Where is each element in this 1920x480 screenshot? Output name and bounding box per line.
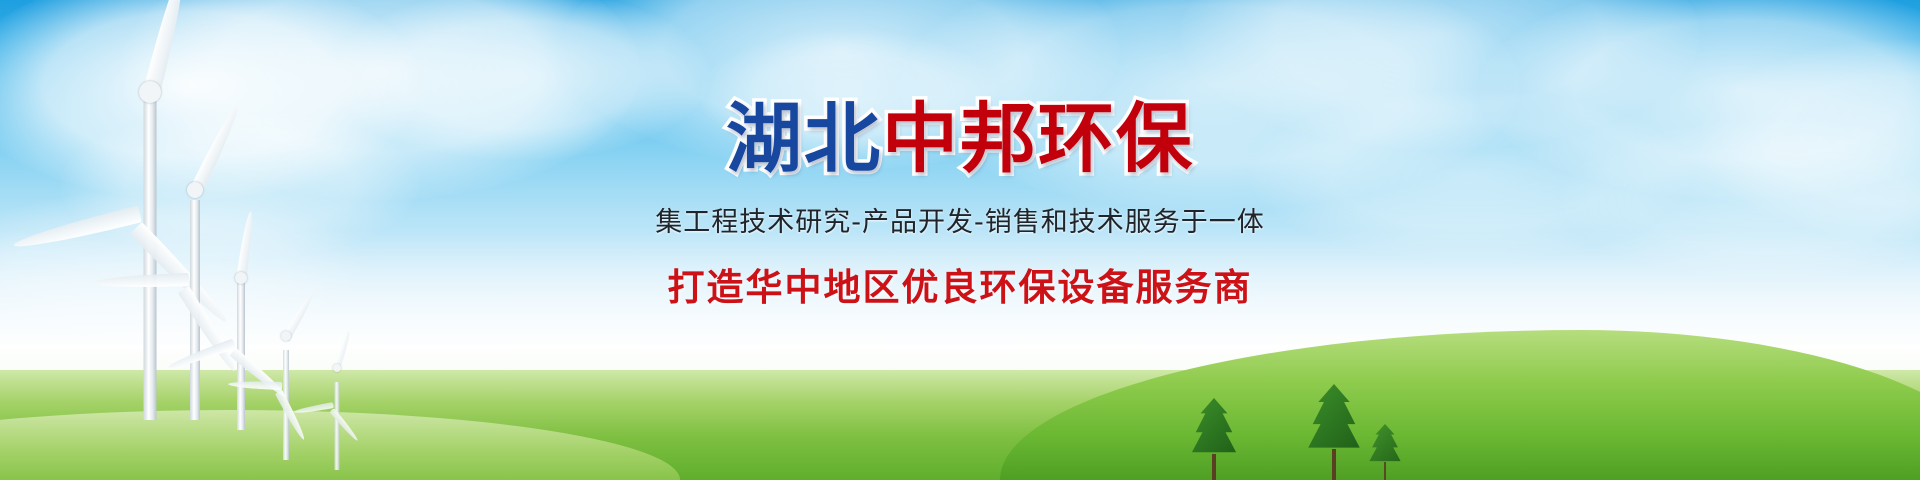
tree-trunk bbox=[1384, 462, 1387, 480]
turbine-blade bbox=[167, 339, 236, 372]
tree-trunk bbox=[1332, 449, 1336, 480]
turbine-blade bbox=[228, 380, 282, 390]
turbine-hub bbox=[333, 364, 341, 372]
tree-crown bbox=[1306, 384, 1362, 453]
banner-title-brand: 中邦环保 bbox=[882, 100, 1194, 178]
banner-subtitle: 集工程技术研究-产品开发-销售和技术服务于一体 bbox=[0, 200, 1920, 239]
tree-icon bbox=[1368, 424, 1402, 480]
turbine-blade bbox=[294, 402, 334, 415]
turbine-tower bbox=[335, 382, 340, 470]
tree-trunk bbox=[1212, 454, 1216, 480]
tree-icon bbox=[1306, 384, 1362, 480]
tree-icon bbox=[1190, 398, 1238, 480]
turbine-hub bbox=[281, 331, 291, 341]
banner-text-block: 湖北中邦环保 集工程技术研究-产品开发-销售和技术服务于一体 打造华中地区优良环… bbox=[0, 100, 1920, 311]
banner-tagline: 打造华中地区优良环保设备服务商 bbox=[0, 257, 1920, 311]
tree-crown bbox=[1190, 398, 1238, 457]
tree-crown bbox=[1368, 424, 1402, 464]
banner-title-region: 湖北 bbox=[726, 100, 882, 178]
banner-title: 湖北中邦环保 bbox=[0, 100, 1920, 178]
hero-banner: 湖北中邦环保 集工程技术研究-产品开发-销售和技术服务于一体 打造华中地区优良环… bbox=[0, 0, 1920, 480]
wind-turbine-icon bbox=[300, 340, 374, 470]
